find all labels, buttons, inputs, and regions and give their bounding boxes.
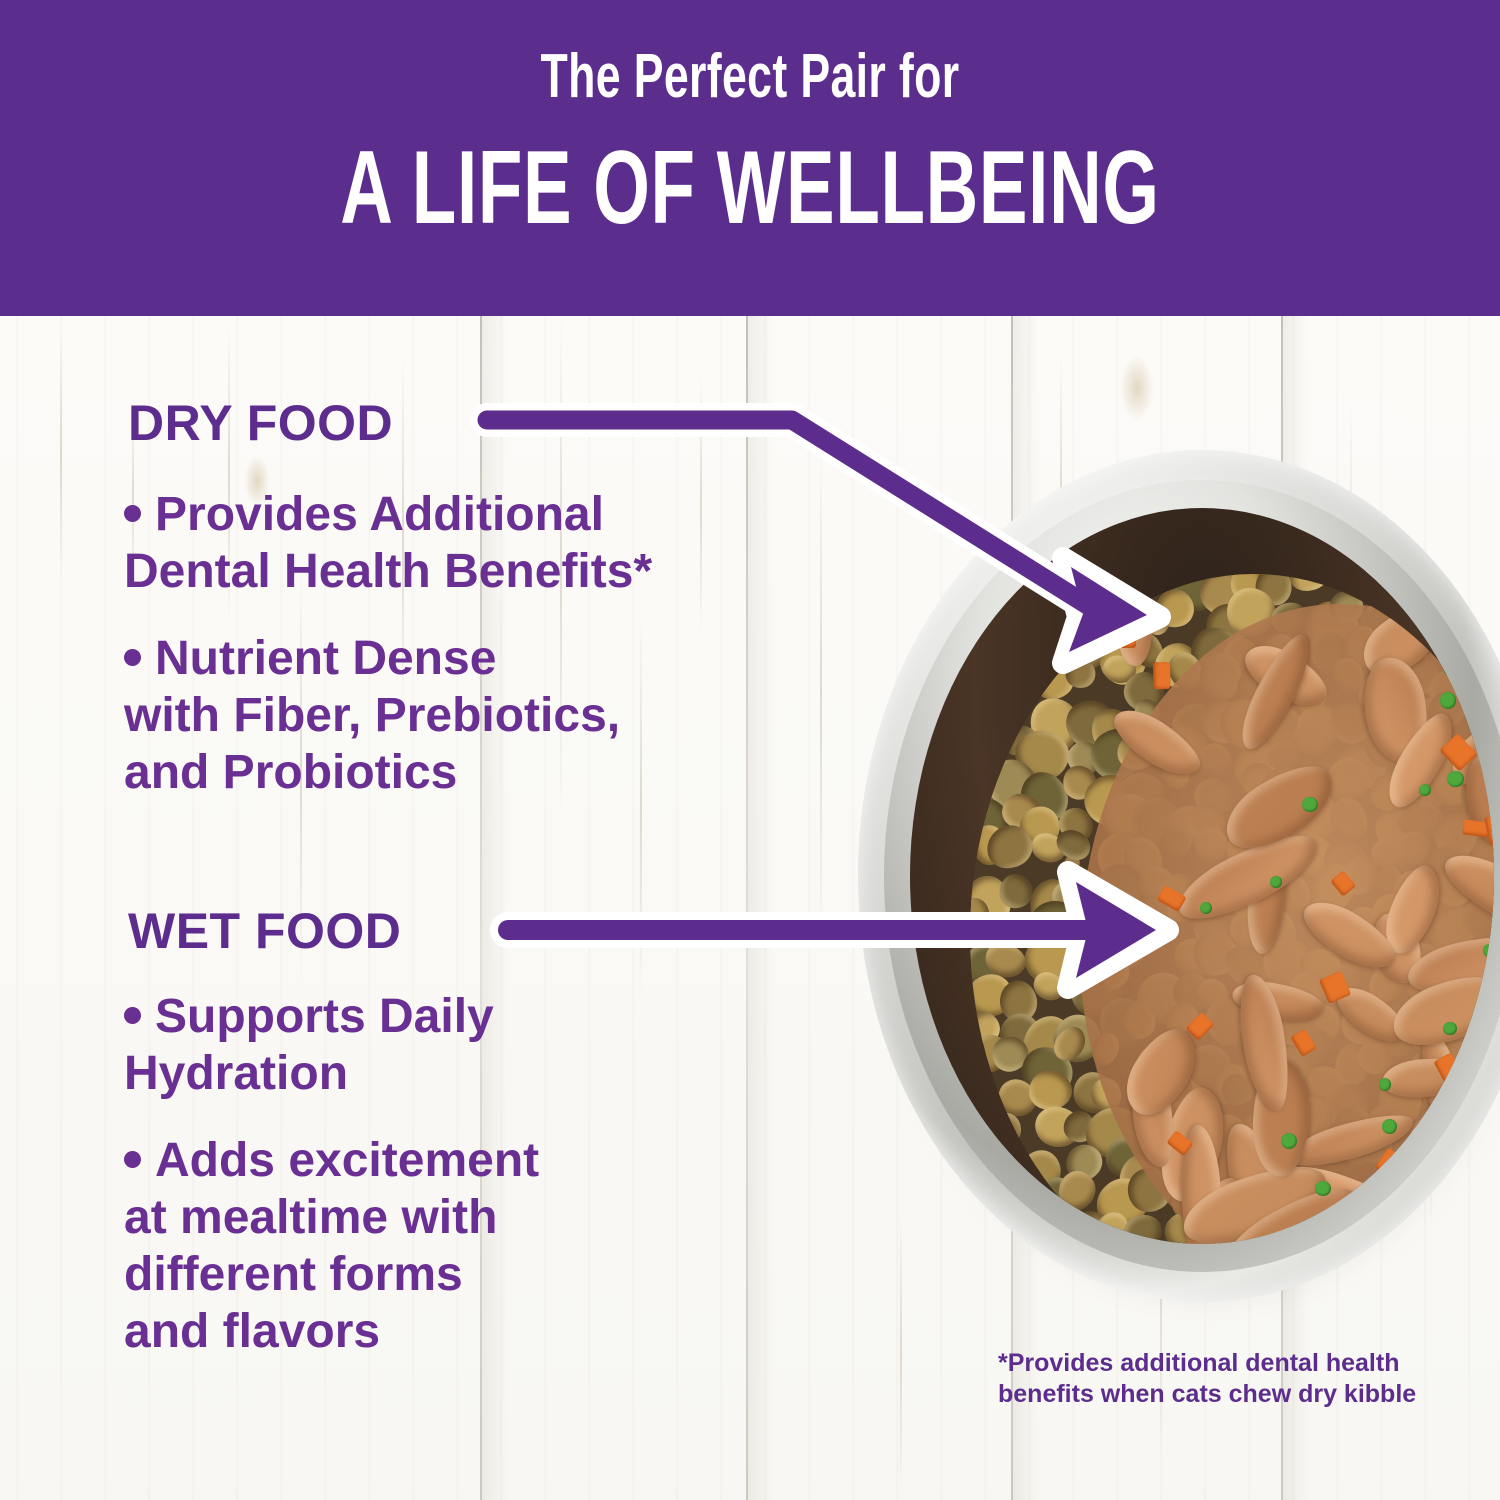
bullet-line: different forms [124, 1248, 463, 1301]
pea-piece [1379, 1078, 1391, 1090]
wet-food-chunk [1118, 596, 1152, 666]
wet-food-bullet-1: Supports Daily Hydration [124, 988, 494, 1102]
footnote: *Provides additional dental health benef… [998, 1348, 1428, 1410]
footnote-line-1: *Provides additional dental health [998, 1348, 1428, 1379]
header-subtitle: The Perfect Pair for [210, 46, 1290, 108]
bullet-line: at mealtime with [124, 1191, 497, 1244]
pea-piece [1315, 1181, 1331, 1197]
pea-piece [1120, 634, 1129, 643]
bullet-line: with Fiber, Prebiotics, [124, 689, 620, 742]
pea-piece [1382, 1119, 1397, 1134]
pea-piece [1270, 876, 1281, 887]
pea-piece [1483, 944, 1494, 957]
food-contents [970, 574, 1494, 1244]
bowl-interior [910, 508, 1494, 1244]
pet-food-bowl-photo [858, 450, 1500, 1312]
bullet-dot-icon [124, 1151, 141, 1168]
header-banner: The Perfect Pair for A LIFE OF WELLBEING [0, 0, 1500, 316]
footnote-line-2: benefits when cats chew dry kibble [998, 1379, 1428, 1410]
bullet-dot-icon [124, 505, 141, 522]
bullet-line: Hydration [124, 1047, 348, 1100]
kibble-piece [1285, 574, 1334, 597]
bullet-line: Nutrient Dense [155, 632, 496, 685]
pea-piece [1200, 902, 1212, 914]
dry-food-bullet-1: Provides Additional Dental Health Benefi… [124, 486, 652, 600]
kibble-piece [999, 874, 1033, 909]
bullet-dot-icon [124, 1007, 141, 1024]
bullet-line: Supports Daily [155, 990, 494, 1043]
dry-food-bullet-2: Nutrient Dense with Fiber, Prebiotics, a… [124, 630, 620, 801]
promo-image: The Perfect Pair for A LIFE OF WELLBEING [0, 0, 1500, 1500]
bullet-line: and flavors [124, 1305, 380, 1358]
header-title: A LIFE OF WELLBEING [225, 136, 1275, 240]
wet-food-region [1120, 634, 1494, 1244]
kibble-piece [986, 1206, 1038, 1244]
bullet-line: and Probiotics [124, 746, 457, 799]
kibble-piece [1028, 1070, 1073, 1111]
section-title-dry-food: DRY FOOD [128, 398, 393, 448]
bullet-line: Dental Health Benefits* [124, 545, 652, 598]
pea-piece [1302, 797, 1318, 813]
section-title-wet-food: WET FOOD [128, 906, 401, 956]
bowl-rim-outer [858, 450, 1500, 1302]
bullet-line: Adds excitement [155, 1134, 539, 1187]
pea-piece [1419, 784, 1431, 796]
bullet-dot-icon [124, 649, 141, 666]
pea-piece [1440, 692, 1457, 709]
bullet-line: Provides Additional [155, 488, 604, 541]
carrot-piece [1153, 662, 1171, 689]
wet-food-bullet-2: Adds excitement at mealtime with differe… [124, 1132, 539, 1360]
